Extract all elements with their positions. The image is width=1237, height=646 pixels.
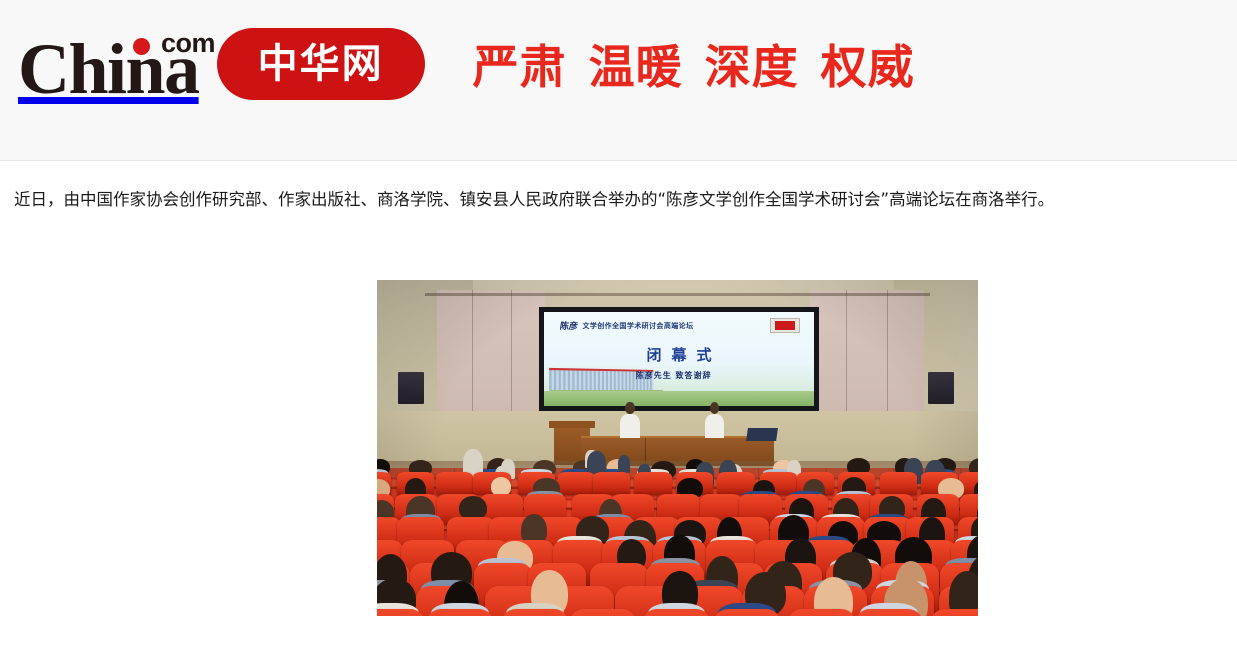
photo-seat	[377, 609, 425, 616]
brand-badge-label: 中华网	[258, 44, 384, 84]
photo-seat	[787, 609, 856, 616]
photo-seat	[593, 472, 630, 496]
article-body: 近日，由中国作家协会创作研究部、作家出版社、商洛学院、镇安县人民政府联合举办的“…	[0, 161, 1237, 646]
photo-wall-speaker-left	[398, 372, 424, 404]
slide-logo-icon	[770, 318, 800, 333]
brand-tld: com	[161, 28, 215, 59]
photo-curtain-rail	[425, 293, 930, 296]
slide-header: 陈彦 文学创作全国学术研讨会高端论坛	[560, 319, 797, 332]
photo-laptop	[746, 428, 778, 441]
photo-seat	[713, 609, 782, 616]
slide-speaker-line: 陈彦先生 致答谢辞	[544, 370, 803, 381]
header-inner: China com 中华网 严肃温暖深度权威	[18, 26, 915, 102]
photo-speaker-person-1	[620, 414, 639, 438]
photo-seat	[855, 609, 924, 616]
slide-title: 闭幕式	[544, 344, 813, 365]
photo-standing-figure	[618, 455, 630, 473]
photo-seat	[426, 609, 495, 616]
photo-audience-head	[491, 477, 512, 496]
photo-speaker-person-2	[705, 414, 724, 438]
tagline-word-4: 权威	[821, 40, 915, 94]
photo-seat	[558, 472, 595, 496]
site-tagline: 严肃温暖深度权威	[473, 31, 915, 97]
photo-seat	[930, 609, 978, 616]
article-lead-paragraph: 近日，由中国作家协会创作研究部、作家出版社、商洛学院、镇安县人民政府联合举办的“…	[14, 187, 1224, 213]
photo-seat	[569, 609, 638, 616]
photo-slide: 陈彦 文学创作全国学术研讨会高端论坛 闭幕式 陈彦先生 致答谢辞	[544, 312, 813, 406]
photo-seat	[436, 472, 473, 496]
tagline-word-2: 温暖	[589, 40, 683, 94]
site-logo-link[interactable]: China com	[18, 26, 209, 102]
photo-seat	[880, 472, 917, 496]
photo-seat	[501, 609, 570, 616]
site-header: China com 中华网 严肃温暖深度权威	[0, 0, 1237, 161]
logo-red-dot-icon	[133, 38, 150, 55]
photo-wall-speaker-right	[928, 372, 954, 404]
photo-audience-head	[459, 496, 487, 520]
tagline-word-1: 严肃	[473, 40, 567, 94]
photo-projection-screen: 陈彦 文学创作全国学术研讨会高端论坛 闭幕式 陈彦先生 致答谢辞	[539, 307, 818, 411]
slide-subtitle: 文学创作全国学术研讨会高端论坛	[582, 321, 693, 331]
conference-hall-photo: 陈彦 文学创作全国学术研讨会高端论坛 闭幕式 陈彦先生 致答谢辞	[377, 280, 978, 616]
slide-brand-name: 陈彦	[560, 319, 580, 332]
slide-grass-band	[544, 391, 813, 406]
article-figure: 陈彦 文学创作全国学术研讨会高端论坛 闭幕式 陈彦先生 致答谢辞	[377, 280, 978, 616]
brand-badge[interactable]: 中华网	[217, 28, 425, 100]
tagline-word-3: 深度	[705, 40, 799, 94]
photo-seat	[634, 472, 671, 496]
photo-seat	[642, 609, 711, 616]
